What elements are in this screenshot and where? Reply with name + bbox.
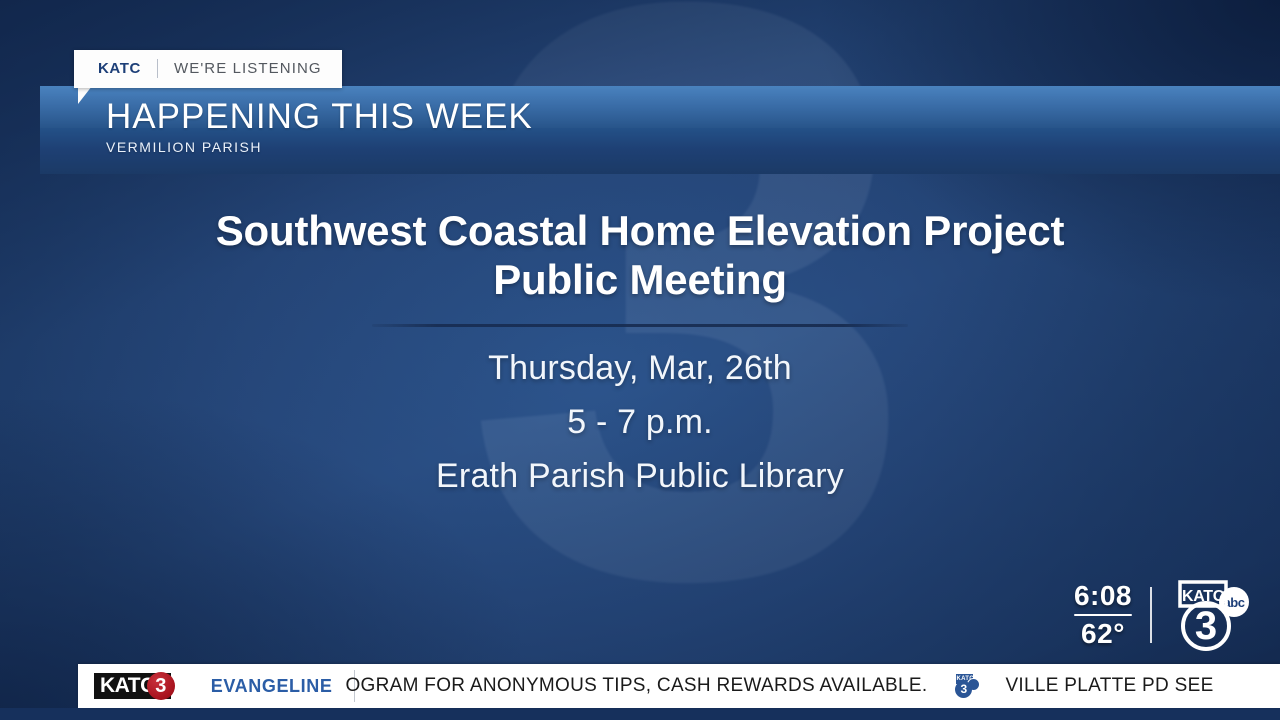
banner-text-group: HAPPENING THIS WEEK VERMILION PARISH: [106, 96, 533, 155]
weather-clock-group: 6:08 62°: [1074, 581, 1132, 649]
ticker-crawl: OGRAM FOR ANONYMOUS TIPS, CASH REWARDS A…: [345, 664, 1280, 708]
bullet-channel-number: 3: [955, 681, 972, 698]
ticker-brand: KATC 3: [78, 664, 185, 708]
ticker-headline-1: OGRAM FOR ANONYMOUS TIPS, CASH REWARDS A…: [345, 675, 927, 697]
ticker-katc3-logo: KATC 3: [94, 673, 171, 699]
banner-subtitle: VERMILION PARISH: [106, 139, 533, 155]
badge-call-letters: KATC: [98, 60, 141, 77]
svg-text:3: 3: [1195, 604, 1217, 648]
ticker-bullet-katc3-icon: KATC 3: [953, 673, 979, 699]
divider-rule: [372, 324, 908, 327]
badge-slogan: WE'RE LISTENING: [174, 60, 322, 77]
event-location: Erath Parish Public Library: [0, 449, 1280, 503]
ticker-channel-number: 3: [147, 672, 175, 700]
segment-banner: HAPPENING THIS WEEK VERMILION PARISH: [40, 86, 1280, 174]
clock-temp-divider: [1074, 614, 1132, 616]
katc3-logo: abc KATC 3: [1170, 576, 1256, 654]
ticker-region-label: EVANGELINE: [185, 664, 355, 708]
clock-time: 6:08: [1074, 581, 1132, 611]
katc3-logo-icon: abc KATC 3: [1170, 576, 1256, 654]
event-headline: Southwest Coastal Home Elevation Project…: [200, 206, 1080, 304]
badge-tail: [78, 86, 92, 104]
temperature-value: 62°: [1074, 619, 1132, 649]
badge-divider: [157, 59, 158, 78]
broadcast-graphic: 3 KATC WE'RE LISTENING HAPPENING THIS WE…: [0, 0, 1280, 720]
event-card: Southwest Coastal Home Elevation Project…: [0, 206, 1280, 503]
ticker-bottom-stripe: [0, 708, 1280, 720]
station-bug: 6:08 62° abc KATC 3: [1074, 576, 1256, 654]
ticker-headline-2: VILLE PLATTE PD SEE: [1005, 675, 1213, 697]
news-ticker: KATC 3 EVANGELINE OGRAM FOR ANONYMOUS TI…: [78, 664, 1280, 708]
station-tag-badge: KATC WE'RE LISTENING: [74, 50, 342, 88]
event-date: Thursday, Mar, 26th: [0, 341, 1280, 395]
bug-vertical-divider: [1150, 587, 1152, 643]
banner-title: HAPPENING THIS WEEK: [106, 96, 533, 137]
event-time: 5 - 7 p.m.: [0, 395, 1280, 449]
